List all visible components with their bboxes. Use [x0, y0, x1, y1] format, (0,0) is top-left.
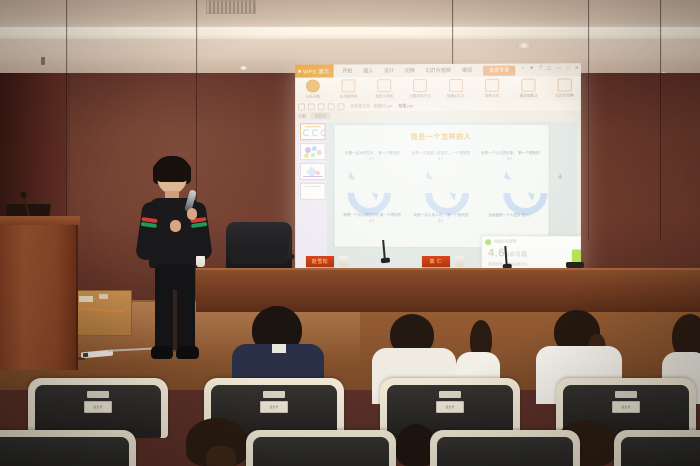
- slide-thumbnail-panel[interactable]: [295, 120, 329, 275]
- play-circle-icon: [306, 80, 320, 93]
- print-icon[interactable]: [308, 103, 315, 110]
- auditorium-seat[interactable]: 座位号: [28, 378, 168, 438]
- ribbon-button-presenter-notes[interactable]: 演讲者备注: [514, 79, 542, 99]
- close-icon[interactable]: ✕: [575, 65, 579, 71]
- redo-icon[interactable]: [338, 103, 345, 110]
- ribbon-button-custom-show[interactable]: 自定义放映: [370, 79, 398, 99]
- slide-thumbnail-4[interactable]: [300, 183, 326, 200]
- slide-label-bottom-3: 当我遇到一个人意外 的人？: [480, 213, 540, 224]
- tea-cup: [196, 256, 205, 267]
- wps-logo-icon: WPS 演示: [295, 65, 333, 78]
- tab-start[interactable]: 开始: [342, 67, 352, 74]
- outline-slide-toggle[interactable]: 大纲 幻灯片: [295, 111, 581, 121]
- seat-number-tag: 座位号: [260, 401, 288, 413]
- slide-label-bottom-1: 我是一个自主离职的时 第一个想到的人？: [343, 213, 403, 224]
- app-name: WPS 演示: [303, 67, 330, 75]
- slide-editing-canvas[interactable]: 我是一个怎样的人 先是一位大学生时， 第一个想到的人？ 我是一名路遇上班族时， …: [327, 122, 577, 275]
- wall-panel-seam: [660, 0, 662, 240]
- junk-size-number: 4.6: [488, 247, 505, 259]
- air-vent-icon: [206, 0, 256, 14]
- maximize-icon[interactable]: □: [567, 65, 570, 71]
- popup-header: 电脑垃圾清理 不再提醒 ×: [482, 236, 581, 248]
- ribbon-label: 设置放映方式: [409, 94, 431, 99]
- tab-slideshow[interactable]: 幻灯片放映: [426, 67, 451, 74]
- auditorium-seat[interactable]: 座位号: [380, 378, 520, 438]
- slide-label-bottom-2: 我是一名认真人时， 第一个想到的人？: [411, 213, 471, 224]
- save-icon[interactable]: [298, 103, 305, 110]
- search-icon[interactable]: ○: [521, 66, 524, 72]
- slide-bottom-label-row: 我是一个自主离职的时 第一个想到的人？ 我是一名认真人时， 第一个想到的人？ 当…: [343, 213, 541, 225]
- hide-slide-icon: [449, 79, 463, 92]
- projection-screen: WPS 演示 开始 插入 设计 切换 幻灯片放映 审阅 会员专享 ○ ▼ ? ◻…: [295, 63, 581, 277]
- collab-icon[interactable]: ?: [539, 65, 542, 71]
- ribbon-button-hide-slide[interactable]: 隐藏幻灯片: [442, 79, 470, 99]
- downlight-icon: [240, 66, 247, 70]
- junk-size-value: 4.6GB垃圾: [488, 247, 528, 259]
- wps-ribbon[interactable]: 从头开始 从当前开始 自定义放映 设置放映方式 隐藏幻灯片 排练计时: [295, 76, 581, 103]
- ceiling-rear: [0, 0, 700, 30]
- junk-size-unit: GB垃圾: [505, 252, 528, 258]
- slide-top-label-row: 先是一位大学生时， 第一个想到的人？ 我是一名路遇上班族时， 一个想到的人？ 我…: [343, 151, 541, 162]
- seat-number-tag: 座位号: [84, 401, 112, 413]
- ribbon-button-setup-show[interactable]: 设置放映方式: [406, 79, 434, 99]
- auditorium-seat[interactable]: [614, 430, 700, 466]
- monitor-icon: [377, 79, 391, 92]
- ribbon-label: 排练计时: [485, 93, 499, 98]
- tab-member[interactable]: 会员专享: [483, 65, 515, 75]
- presenter-hand-left: [170, 220, 181, 232]
- record-icon: [521, 79, 535, 92]
- slide-title: 我是一个怎样的人: [335, 132, 549, 142]
- ribbon-button-rehearse[interactable]: 排练计时: [478, 79, 506, 99]
- document-tab-1[interactable]: 优秀班主任 - 能量付.ppt: [350, 103, 392, 109]
- lectern: 河南司法警官学院 习 1982: [0, 225, 78, 370]
- wps-title-bar: WPS 演示 开始 插入 设计 切换 幻灯片放映 审阅 会员专享 ○ ▼ ? ◻…: [295, 63, 581, 77]
- rehearse-icon: [485, 79, 499, 92]
- tab-insert[interactable]: 插入: [363, 67, 373, 74]
- ribbon-label: 从当前开始: [340, 94, 358, 99]
- projector-icon: [558, 78, 572, 91]
- presenter-hair: [153, 156, 191, 182]
- tab-transition[interactable]: 切换: [405, 67, 415, 74]
- slide-label-top-1: 先是一位大学生时， 第一个想到的人？: [343, 151, 403, 162]
- slide-thumbnail-3[interactable]: [300, 163, 326, 180]
- cycle-arrow-icon: [420, 169, 462, 203]
- presenter-shoe: [151, 346, 173, 359]
- slide-thumbnail-1[interactable]: [300, 123, 326, 140]
- cycle-arrow-icon: [343, 169, 385, 203]
- auditorium-photo: WPS 演示 开始 插入 设计 切换 幻灯片放映 审阅 会员专享 ○ ▼ ? ◻…: [0, 0, 700, 466]
- slides-tab[interactable]: 幻灯片: [311, 112, 331, 119]
- ribbon-button-from-start[interactable]: 从头开始: [299, 80, 327, 99]
- ceiling-light-panel: [516, 43, 532, 48]
- current-slide[interactable]: 我是一个怎样的人 先是一位大学生时， 第一个想到的人？ 我是一名路遇上班族时， …: [335, 125, 549, 248]
- outline-tab[interactable]: 大纲: [298, 113, 306, 119]
- cycle-arrow-icon: [498, 169, 540, 203]
- seat-number-tag: 座位号: [436, 401, 464, 413]
- ribbon-label: 隐藏幻灯片: [447, 93, 465, 98]
- screen-icon: [342, 79, 356, 92]
- undo-icon[interactable]: [328, 103, 335, 110]
- name-plate: 高 仁: [422, 256, 450, 267]
- slide-label-top-2: 我是一名路遇上班族时， 一个想到的人？: [411, 151, 471, 162]
- restore-icon[interactable]: ◻: [547, 65, 551, 71]
- cleaner-icon: [485, 239, 491, 245]
- ribbon-tab-strip[interactable]: 开始 插入 设计 切换 幻灯片放映 审阅 会员专享: [342, 65, 515, 76]
- preview-icon[interactable]: [318, 103, 325, 110]
- ribbon-button-from-current[interactable]: 从当前开始: [335, 79, 363, 99]
- presenter: [131, 160, 227, 365]
- presenter-shoe: [176, 346, 199, 359]
- slide-thumbnail-2[interactable]: [300, 143, 326, 160]
- ribbon-label: 演讲者备注: [519, 93, 537, 98]
- name-plate: 赵雪松: [306, 256, 334, 267]
- document-tab-2[interactable]: 尊重.ppt: [398, 103, 413, 109]
- cardboard-box: [74, 290, 132, 336]
- ribbon-label: 从头开始: [306, 94, 320, 99]
- window-controls[interactable]: ○ ▼ ? ◻ — □ ✕: [521, 65, 579, 71]
- ceiling-spot-icon: [41, 57, 45, 65]
- tab-review[interactable]: 审阅: [462, 67, 472, 74]
- slideshow-icon: [413, 79, 427, 92]
- auditorium-seat[interactable]: [430, 430, 580, 466]
- mouse-pointer-icon: [557, 173, 564, 180]
- seat-number-tag: 座位号: [612, 401, 640, 413]
- popup-title: 电脑垃圾清理: [494, 239, 516, 244]
- ribbon-label: 自定义放映: [375, 94, 393, 99]
- ribbon-button-slide-switch[interactable]: 幻灯片切换: [551, 78, 579, 98]
- executive-chair: [226, 222, 292, 270]
- slide-label-top-3: 我是一个公认的形象， 第一个想到的人？: [480, 151, 540, 162]
- tea-cup: [455, 256, 464, 267]
- auditorium-seat[interactable]: [246, 430, 396, 466]
- auditorium-seat[interactable]: [0, 430, 136, 466]
- minimize-icon[interactable]: —: [556, 65, 561, 71]
- presenter-hand-right: [187, 208, 197, 220]
- ribbon-label: 幻灯片切换: [556, 93, 574, 98]
- share-icon[interactable]: ▼: [529, 65, 534, 71]
- slide-graphic-row: [343, 169, 541, 203]
- wall-panel-seam: [588, 0, 590, 240]
- tab-design[interactable]: 设计: [384, 67, 394, 74]
- wall-panel-seam: [66, 0, 68, 240]
- tea-cup: [339, 256, 348, 267]
